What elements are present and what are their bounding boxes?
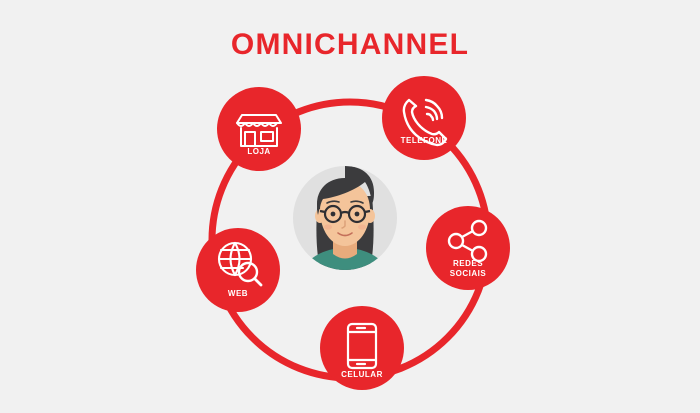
- customer-avatar: [293, 166, 397, 292]
- node-redes-sociais[interactable]: REDES SOCIAIS: [426, 206, 510, 290]
- avatar-cheek-right: [358, 224, 366, 229]
- omnichannel-infographic: OMNICHANNEL: [0, 0, 700, 413]
- avatar-cheek-left: [324, 224, 332, 229]
- node-celular[interactable]: CELULAR: [320, 306, 404, 390]
- node-redes-sociais-label-line2: SOCIAIS: [450, 269, 487, 278]
- node-loja-circle[interactable]: [217, 87, 301, 171]
- node-web[interactable]: WEB: [196, 228, 280, 312]
- node-celular-label: CELULAR: [341, 370, 383, 379]
- avatar-eye-left: [331, 212, 336, 217]
- node-redes-sociais-label-line1: REDES: [453, 259, 483, 268]
- node-web-label: WEB: [228, 289, 248, 298]
- node-telefone[interactable]: TELEFONE: [382, 76, 466, 160]
- node-loja[interactable]: LOJA: [217, 87, 301, 171]
- node-loja-label: LOJA: [247, 147, 270, 156]
- node-telefone-circle[interactable]: [382, 76, 466, 160]
- avatar-eye-right: [355, 212, 360, 217]
- node-telefone-label: TELEFONE: [401, 136, 448, 145]
- omnichannel-diagram: LOJA TELEFONE REDES SOCIAIS: [0, 0, 700, 413]
